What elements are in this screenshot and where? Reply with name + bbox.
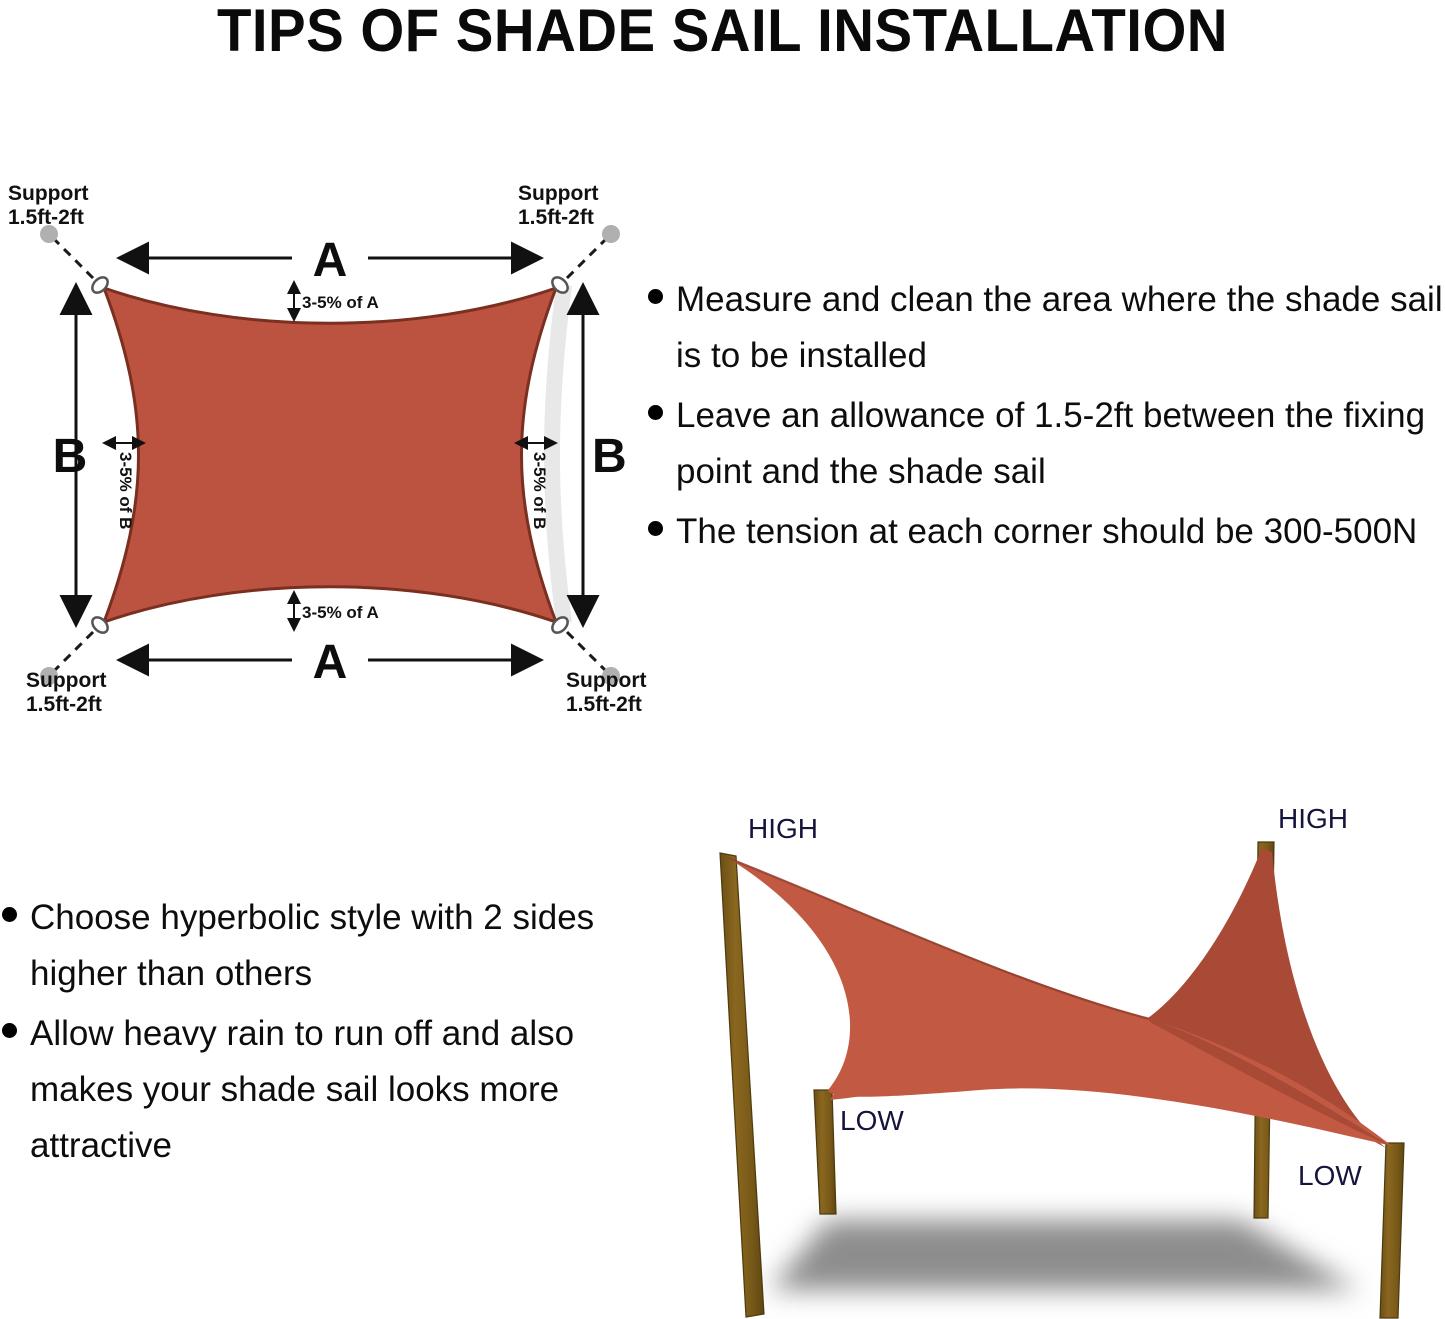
infographic-page: TIPS OF SHADE SAIL INSTALLATION (0, 0, 1445, 1319)
tip-text: The tension at each corner should be 300… (676, 504, 1417, 560)
tip-text: Leave an allowance of 1.5-2ft between th… (676, 388, 1445, 500)
tip-text: Measure and clean the area where the sha… (676, 272, 1445, 384)
dimension-label-a-top: A (313, 234, 348, 287)
bullet-dot-icon (2, 1023, 17, 1038)
hyperbolic-sail-diagram: HIGH HIGH LOW LOW (680, 790, 1445, 1319)
list-item: The tension at each corner should be 300… (648, 504, 1445, 560)
page-title: TIPS OF SHADE SAIL INSTALLATION (43, 0, 1401, 62)
post-high-left (720, 853, 764, 1317)
bullet-dot-icon (648, 289, 663, 304)
support-label-top-right-line1: Support (518, 182, 598, 205)
tips-list-right: Measure and clean the area where the sha… (648, 272, 1445, 564)
label-low-right: LOW (1298, 1160, 1362, 1191)
list-item: Allow heavy rain to run off and also mak… (2, 1006, 632, 1174)
sag-label-bottom: 3-5% of A (302, 603, 379, 622)
tip-text: Choose hyperbolic style with 2 sides hig… (30, 890, 632, 1002)
bullet-dot-icon (648, 521, 663, 536)
support-label-bottom-left-line1: Support (26, 669, 106, 692)
bullet-dot-icon (648, 405, 663, 420)
label-high-left: HIGH (748, 813, 818, 844)
bullet-dot-icon (2, 907, 17, 922)
support-dot-top-right (602, 225, 620, 243)
list-item: Leave an allowance of 1.5-2ft between th… (648, 388, 1445, 500)
sag-label-left: 3-5% of B (116, 452, 135, 529)
label-low-left: LOW (840, 1105, 904, 1136)
rectangular-sail-diagram: Support 1.5ft-2ft Support 1.5ft-2ft Supp… (0, 160, 660, 730)
sag-label-top: 3-5% of A (302, 293, 379, 312)
support-label-bottom-right-line1: Support (566, 669, 646, 692)
dimension-label-b-left: B (53, 430, 88, 483)
label-high-right: HIGH (1278, 803, 1348, 834)
post-low-right (1380, 1143, 1404, 1318)
post-low-left (814, 1090, 836, 1214)
list-item: Measure and clean the area where the sha… (648, 272, 1445, 384)
tips-list-bottom-left: Choose hyperbolic style with 2 sides hig… (2, 890, 632, 1178)
list-item: Choose hyperbolic style with 2 sides hig… (2, 890, 632, 1002)
support-label-top-left-line1: Support (8, 182, 88, 205)
support-label-top-right-line2: 1.5ft-2ft (518, 206, 594, 229)
dimension-label-b-right: B (592, 430, 627, 483)
ground-shadow (770, 1220, 1360, 1290)
sail-body (104, 288, 556, 622)
sag-label-right: 3-5% of B (530, 452, 549, 529)
support-label-top-left-line2: 1.5ft-2ft (8, 206, 84, 229)
support-label-bottom-right-line2: 1.5ft-2ft (566, 693, 642, 716)
support-label-bottom-left-line2: 1.5ft-2ft (26, 693, 102, 716)
dimension-label-a-bottom: A (313, 636, 348, 689)
tip-text: Allow heavy rain to run off and also mak… (30, 1006, 632, 1174)
